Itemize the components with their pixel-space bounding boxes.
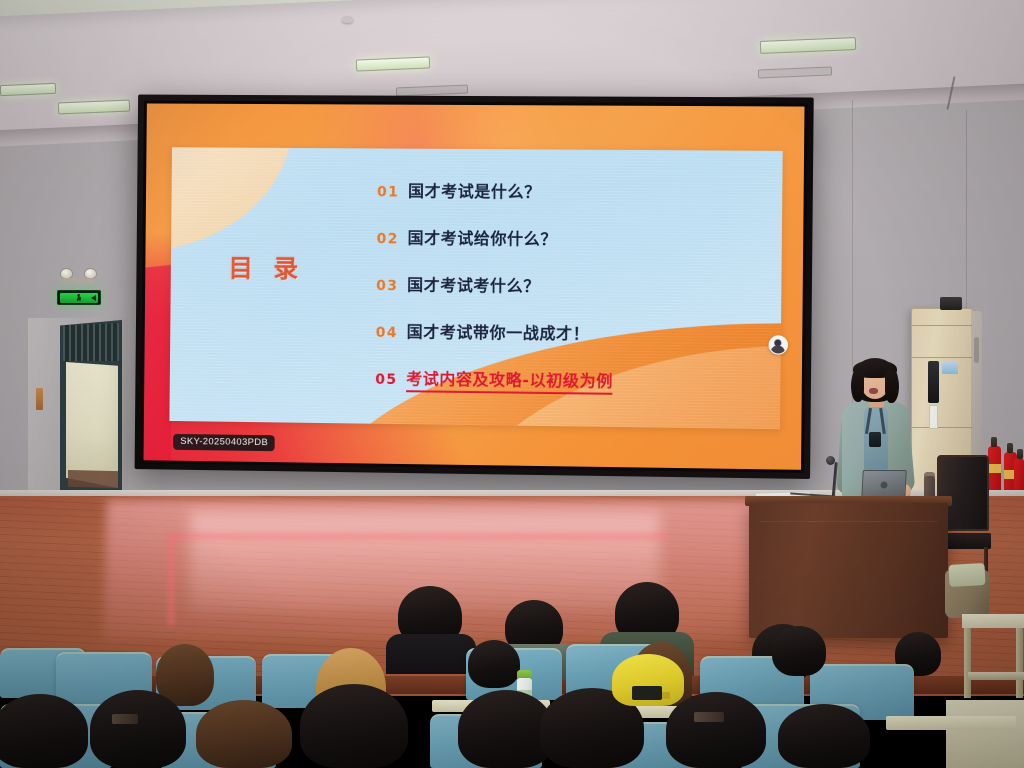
toc-number: 04 [376,325,398,341]
side-table-shelf [968,672,1024,680]
toc-number: 05 [375,372,397,388]
reflection-edge [168,534,668,539]
hair-clip [112,714,138,724]
toc-number: 02 [377,231,399,247]
seat-writing-tablet[interactable] [886,716,1016,730]
toc-item-02: 02 国才考试给你什么？ [377,224,758,251]
exit-sign-icon [60,293,98,303]
smoke-detector-icon [342,16,353,23]
presenter-mouth [869,388,878,394]
lower-desk [946,700,1024,768]
toc-item-03: 03 国才考试考什么？ [376,271,757,299]
toc-number: 01 [377,184,399,200]
toc-label: 国才考试考什么？ [407,271,540,296]
podium [749,503,948,638]
lecture-hall-photo: 目 录 01 国才考试是什么？ 02 国才考试给你什么？ 03 国才考试考什么 [0,0,1024,768]
ac-hang-tag [929,405,938,429]
audience-head [196,700,292,768]
cap-strap [632,686,662,700]
door-kick-plate [68,470,118,488]
toc-label: 国才考试是什么？ [408,178,541,203]
door-panel[interactable] [66,362,118,488]
presenter-badge [869,432,881,447]
presenter-hair-side [851,370,864,402]
presentation-slide: 目 录 01 国才考试是什么？ 02 国才考试给你什么？ 03 国才考试考什么 [144,103,805,469]
audience-head [0,694,88,768]
ac-label [942,362,958,374]
screen-bezel: 目 录 01 国才考试是什么？ 02 国才考试给你什么？ 03 国才考试考什么 [141,100,808,472]
toc-label: 考试内容及攻略-以初级为例 [406,365,613,395]
projection-screen: 目 录 01 国才考试是什么？ 02 国才考试给你什么？ 03 国才考试考什么 [135,95,814,480]
presenter-hair-side [885,370,899,403]
bag-flap [948,563,985,587]
exit-sign [57,290,101,305]
slide-watermark: SKY-20250403PDB [173,434,275,451]
hair-clip [694,712,724,722]
slide-toc-list: 01 国才考试是什么？ 02 国才考试给你什么？ 03 国才考试考什么？ 0 [375,177,758,418]
toc-label: 国才考试带你一战成才！ [407,318,590,344]
side-table-leg [964,628,971,698]
reflection-edge [168,536,174,626]
slide-heading: 目 录 [228,249,304,285]
audience-head [90,690,186,768]
audience-head [468,640,520,688]
side-table [962,614,1024,628]
toc-item-05-active: 05 考试内容及攻略-以初级为例 [375,365,756,397]
door-transom-grille [63,323,119,361]
emergency-light [58,268,100,284]
side-table-leg [1016,628,1023,698]
audience-head [666,692,766,768]
toc-number: 03 [376,278,398,294]
corner-decoration [170,147,293,252]
ceiling-light [0,83,56,96]
ac-side-vent [974,337,979,363]
slide-crimson-edge [144,232,173,461]
toc-item-01: 01 国才考试是什么？ [377,177,758,204]
presenter-avatar-icon [768,335,787,354]
microphone-icon [826,456,835,465]
audience-head [300,684,408,768]
toc-label: 国才考试给你什么？ [408,224,558,249]
ac-top-box [940,297,962,310]
door-handle[interactable] [36,388,43,410]
cap-buckle [662,692,670,699]
slide-content-panel: 目 录 01 国才考试是什么？ 02 国才考试给你什么？ 03 国才考试考什么 [170,147,783,429]
wall-seam [966,110,967,310]
ac-control-panel[interactable] [928,361,939,403]
toc-item-04: 04 国才考试带你一战成才！ [376,318,757,346]
laptop-logo [880,482,887,489]
audience-head [772,626,826,676]
audience-head [778,704,870,768]
audience-shoulders [386,634,476,674]
